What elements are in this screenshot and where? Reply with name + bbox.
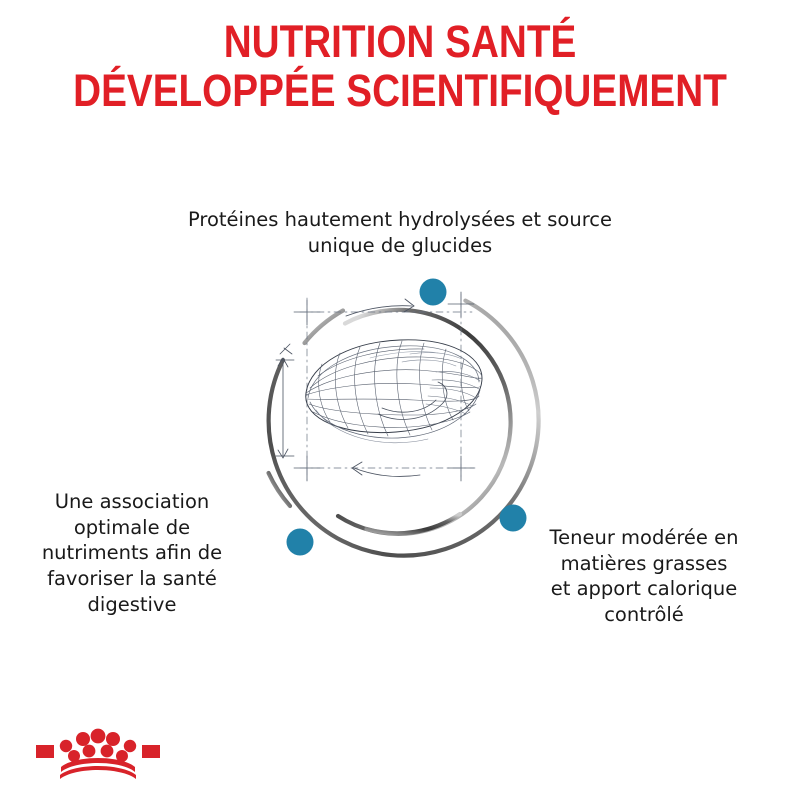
crown-dot-top-1: [60, 740, 72, 752]
dimension-bracket-left: [276, 344, 294, 458]
callout-text-top: Protéines hautement hydrolysées et sourc…: [165, 207, 635, 258]
crown-side-bar-right: [142, 745, 160, 758]
dimension-arrow-top: [346, 299, 414, 316]
callout-text-right: Teneur modérée en matières grasses et ap…: [530, 525, 758, 628]
crown-shape: [36, 729, 160, 779]
circular-diagram: [250, 268, 555, 573]
node-dot-right[interactable]: [500, 505, 527, 532]
crown-dot-top-5: [124, 740, 136, 752]
crown-dot-top-3: [91, 729, 106, 744]
crown-side-bar-left: [36, 745, 54, 758]
crown-dot-top-2: [76, 732, 90, 746]
node-dot-bottom-left[interactable]: [287, 529, 314, 556]
page-title-line-1: NUTRITION SANTÉ: [56, 18, 744, 65]
crown-arc-lower: [60, 766, 136, 779]
outer-ring: [269, 301, 539, 556]
callout-text-left: Une association optimale de nutriments a…: [18, 489, 246, 618]
royal-canin-crown-logo: [33, 722, 163, 782]
inner-ring-arc-bottom: [367, 514, 461, 533]
node-dot-top[interactable]: [420, 279, 447, 306]
crown-logo-svg: [33, 722, 163, 782]
crown-dot-mid-2: [83, 745, 96, 758]
kibble-mesh-longitudinal: [306, 349, 482, 427]
crown-dot-top-4: [106, 732, 120, 746]
outer-ring-arc-stub-topleft: [305, 311, 344, 344]
inner-ring-arc-main: [338, 310, 511, 534]
page-title: NUTRITION SANTÉ DÉVELOPPÉE SCIENTIFIQUEM…: [0, 18, 800, 115]
diagram-nodes: [287, 279, 527, 556]
inner-ring: [338, 310, 511, 534]
page-title-line-2: DÉVELOPPÉE SCIENTIFIQUEMENT: [56, 67, 744, 114]
dimension-arrow-bottom: [352, 462, 420, 476]
crown-dot-mid-3: [101, 745, 114, 758]
